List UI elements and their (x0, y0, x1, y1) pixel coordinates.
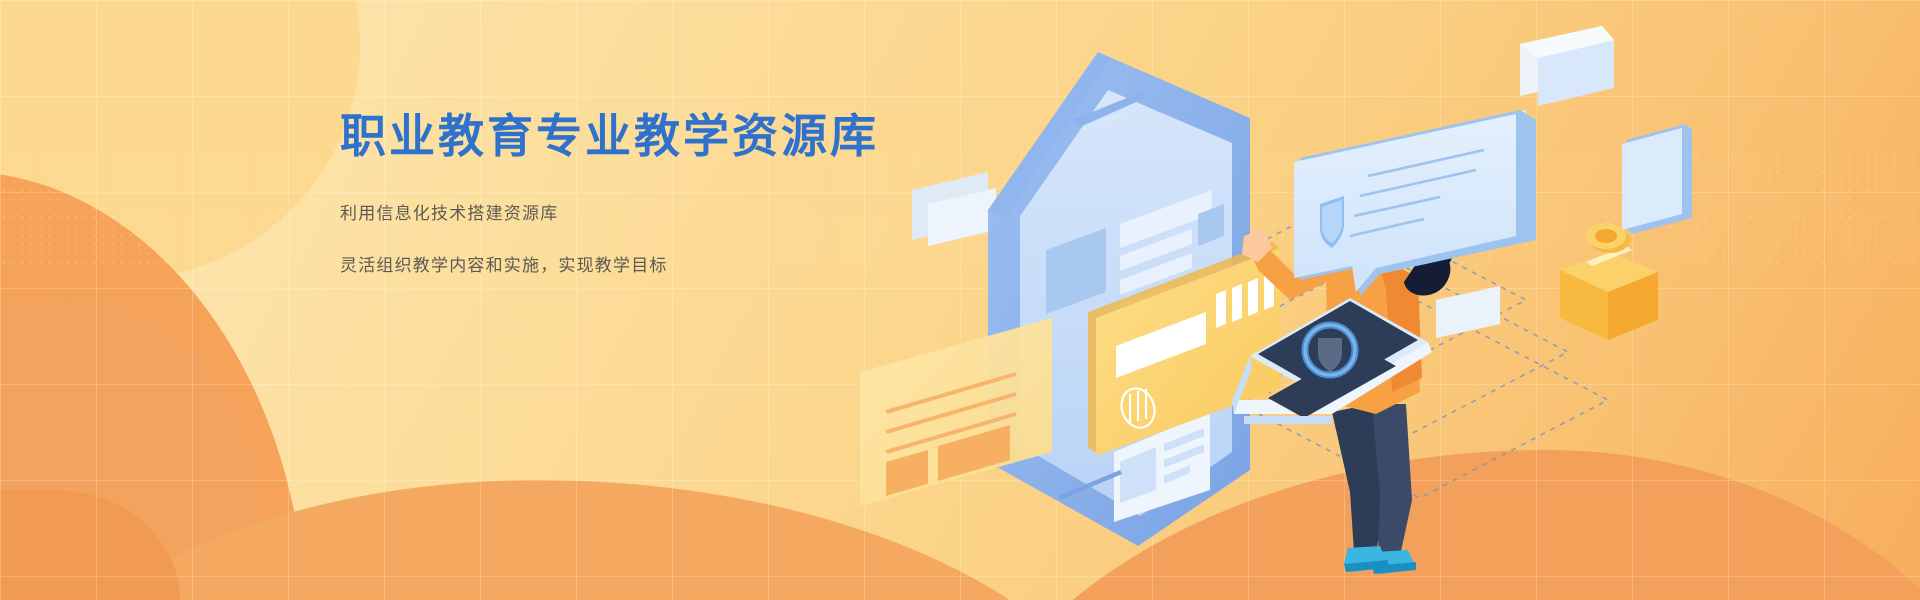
floating-card-person-right (1436, 286, 1500, 338)
floating-card-left (912, 172, 996, 246)
coin-box (1560, 223, 1658, 340)
floating-card-top-right (1520, 26, 1614, 106)
hero-banner: 职业教育专业教学资源库 利用信息化技术搭建资源库 灵活组织教学内容和实施，实现教… (0, 0, 1920, 600)
hero-illustration (820, 0, 1920, 600)
floating-card-right-edge (1622, 124, 1692, 234)
